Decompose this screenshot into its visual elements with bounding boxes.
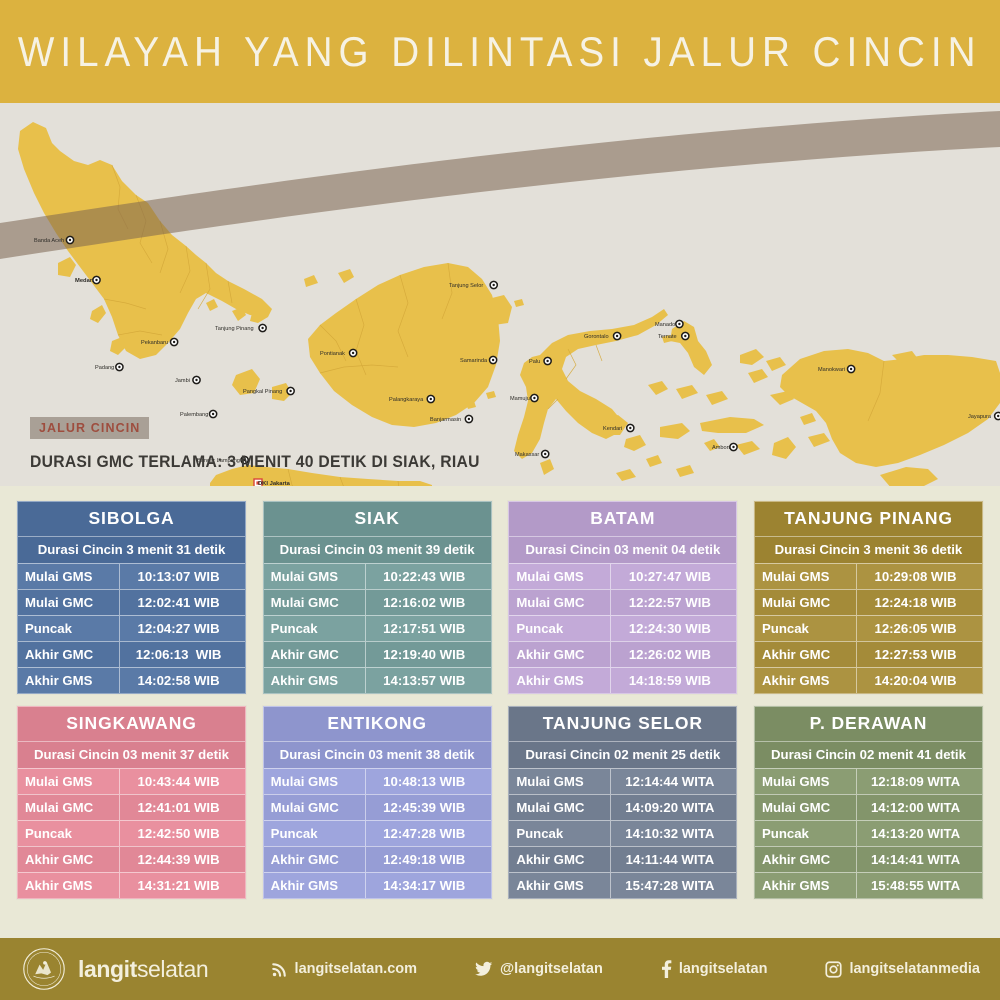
brand-block[interactable]: langitselatan	[0, 947, 208, 991]
table-row: Akhir GMC14:11:44 WITA	[509, 846, 736, 872]
row-value: 12:42:50 WIB	[120, 821, 245, 846]
footer-links: langitselatan.com@langitselatanlangitsel…	[213, 960, 1000, 978]
table-row: Akhir GMS14:31:21 WIB	[18, 872, 245, 898]
row-label: Mulai GMC	[755, 590, 857, 615]
row-label: Akhir GMC	[755, 642, 857, 667]
city-marker-medan	[93, 276, 100, 283]
city-marker-palangkaraya	[427, 395, 434, 402]
city-marker-palu	[544, 357, 551, 364]
row-value: 14:02:58 WIB	[120, 668, 245, 693]
city-marker-palembang	[210, 410, 217, 417]
city-marker-gorontalo	[614, 332, 621, 339]
row-label: Mulai GMS	[755, 564, 857, 589]
row-label: Mulai GMC	[18, 795, 120, 820]
city-label: Ternate	[658, 334, 677, 340]
map-caption: DURASI GMC TERLAMA: 3 MENIT 40 DETIK DI …	[30, 453, 480, 472]
instagram-icon	[825, 961, 842, 978]
table-row: Mulai GMS10:29:08 WIB	[755, 563, 982, 589]
city-card-p-derawan: P. DERAWANDurasi Cincin 02 menit 41 deti…	[754, 706, 983, 899]
row-label: Mulai GMS	[18, 769, 120, 794]
row-label: Puncak	[18, 821, 120, 846]
row-value: 14:11:44 WITA	[611, 847, 736, 872]
table-row: Puncak14:13:20 WITA	[755, 820, 982, 846]
card-duration: Durasi Cincin 02 menit 25 detik	[509, 741, 736, 768]
table-row: Akhir GMS14:18:59 WIB	[509, 667, 736, 693]
card-title: TANJUNG SELOR	[509, 707, 736, 741]
city-card-tanjung-selor: TANJUNG SELORDurasi Cincin 02 menit 25 d…	[508, 706, 737, 899]
table-row: Puncak12:17:51 WIB	[264, 615, 491, 641]
city-card-siak: SIAKDurasi Cincin 03 menit 39 detikMulai…	[263, 501, 492, 694]
city-label: Tanjung Pinang	[215, 326, 254, 332]
row-value: 10:43:44 WIB	[120, 769, 245, 794]
row-value: 12:26:02 WIB	[611, 642, 736, 667]
footer-link-twitter[interactable]: @langitselatan	[475, 961, 603, 977]
city-label: Pangkal Pinang	[243, 389, 282, 395]
row-value: 12:26:05 WIB	[857, 616, 982, 641]
row-label: Puncak	[755, 616, 857, 641]
table-row: Akhir GMC12:44:39 WIB	[18, 846, 245, 872]
legend-jalur-cincin: JALUR CINCIN	[30, 417, 149, 439]
row-value: 12:41:01 WIB	[120, 795, 245, 820]
city-marker-tanjung-pinang	[259, 324, 266, 331]
footer-link-facebook[interactable]: langitselatan	[661, 960, 768, 978]
row-label: Akhir GMS	[755, 873, 857, 898]
table-row: Mulai GMS10:22:43 WIB	[264, 563, 491, 589]
row-value: 14:14:41 WITA	[857, 847, 982, 872]
city-label: Ambon	[712, 445, 730, 451]
table-row: Puncak12:26:05 WIB	[755, 615, 982, 641]
city-timing-cards: SIBOLGADurasi Cincin 3 menit 31 detikMul…	[0, 486, 1000, 899]
city-label: Palu	[529, 359, 540, 365]
row-label: Puncak	[509, 616, 611, 641]
page-footer: langitselatan langitselatan.com@langitse…	[0, 938, 1000, 1000]
row-label: Mulai GMS	[509, 564, 611, 589]
city-label: Tanjung Selor	[449, 283, 483, 289]
city-label: Manado	[655, 322, 675, 328]
row-label: Mulai GMC	[264, 590, 366, 615]
table-row: Puncak14:10:32 WITA	[509, 820, 736, 846]
langitselatan-seal-icon	[22, 947, 66, 991]
city-label: Gorontalo	[584, 334, 609, 340]
footer-link-label: langitselatanmedia	[849, 961, 980, 977]
card-duration: Durasi Cincin 03 menit 38 detik	[264, 741, 491, 768]
card-title: ENTIKONG	[264, 707, 491, 741]
city-marker-samarinda	[490, 356, 497, 363]
row-label: Puncak	[18, 616, 120, 641]
card-rows: Mulai GMS12:14:44 WITAMulai GMC14:09:20 …	[509, 768, 736, 898]
city-marker-banda-aceh	[66, 236, 73, 243]
table-row: Akhir GMS15:47:28 WITA	[509, 872, 736, 898]
card-rows: Mulai GMS10:22:43 WIBMulai GMC12:16:02 W…	[264, 563, 491, 693]
row-label: Akhir GMS	[18, 668, 120, 693]
table-row: Mulai GMC12:16:02 WIB	[264, 589, 491, 615]
table-row: Akhir GMC12:06:13 WIB	[18, 641, 245, 667]
table-row: Mulai GMS10:43:44 WIB	[18, 768, 245, 794]
row-value: 14:09:20 WITA	[611, 795, 736, 820]
footer-link-rss[interactable]: langitselatan.com	[271, 961, 417, 978]
brand-light: selatan	[137, 956, 208, 982]
row-label: Puncak	[509, 821, 611, 846]
row-value: 14:10:32 WITA	[611, 821, 736, 846]
card-title: SIBOLGA	[18, 502, 245, 536]
row-label: Mulai GMS	[18, 564, 120, 589]
card-row-bottom: SINGKAWANGDurasi Cincin 03 menit 37 deti…	[0, 706, 1000, 899]
row-value: 12:18:09 WITA	[857, 769, 982, 794]
row-value: 12:49:18 WIB	[366, 847, 491, 872]
table-row: Akhir GMS14:13:57 WIB	[264, 667, 491, 693]
table-row: Akhir GMC12:27:53 WIB	[755, 641, 982, 667]
row-label: Mulai GMC	[755, 795, 857, 820]
row-label: Mulai GMS	[264, 769, 366, 794]
city-marker-pangkal-pinang	[287, 387, 294, 394]
city-card-batam: BATAMDurasi Cincin 03 menit 04 detikMula…	[508, 501, 737, 694]
row-label: Akhir GMC	[18, 642, 120, 667]
card-rows: Mulai GMS10:27:47 WIBMulai GMC12:22:57 W…	[509, 563, 736, 693]
row-value: 12:19:40 WIB	[366, 642, 491, 667]
row-value: 14:13:57 WIB	[366, 668, 491, 693]
table-row: Puncak12:42:50 WIB	[18, 820, 245, 846]
city-marker-jambi	[193, 376, 200, 383]
card-title: BATAM	[509, 502, 736, 536]
city-card-sibolga: SIBOLGADurasi Cincin 3 menit 31 detikMul…	[17, 501, 246, 694]
table-row: Mulai GMC12:02:41 WIB	[18, 589, 245, 615]
row-label: Mulai GMS	[755, 769, 857, 794]
table-row: Mulai GMS12:14:44 WITA	[509, 768, 736, 794]
city-marker-banjarmasin	[465, 415, 472, 422]
row-value: 12:24:30 WIB	[611, 616, 736, 641]
city-label: Banda Aceh	[34, 238, 64, 244]
city-marker-jayapura	[995, 412, 1000, 419]
card-rows: Mulai GMS10:29:08 WIBMulai GMC12:24:18 W…	[755, 563, 982, 693]
card-duration: Durasi Cincin 02 menit 41 detik	[755, 741, 982, 768]
city-card-tanjung-pinang: TANJUNG PINANGDurasi Cincin 3 menit 36 d…	[754, 501, 983, 694]
table-row: Mulai GMC12:22:57 WIB	[509, 589, 736, 615]
row-label: Puncak	[264, 616, 366, 641]
row-value: 10:48:13 WIB	[366, 769, 491, 794]
card-title: TANJUNG PINANG	[755, 502, 982, 536]
city-marker-mamuju	[531, 394, 538, 401]
table-row: Puncak12:47:28 WIB	[264, 820, 491, 846]
row-value: 12:44:39 WIB	[120, 847, 245, 872]
row-label: Mulai GMC	[509, 590, 611, 615]
row-label: Mulai GMS	[264, 564, 366, 589]
card-title: P. DERAWAN	[755, 707, 982, 741]
city-label: Banjarmasin	[430, 417, 461, 423]
row-value: 10:29:08 WIB	[857, 564, 982, 589]
table-row: Puncak12:24:30 WIB	[509, 615, 736, 641]
row-value: 14:34:17 WIB	[366, 873, 491, 898]
row-label: Mulai GMS	[509, 769, 611, 794]
table-row: Mulai GMC14:12:00 WITA	[755, 794, 982, 820]
card-title: SINGKAWANG	[18, 707, 245, 741]
facebook-icon	[661, 960, 672, 978]
table-row: Mulai GMC12:24:18 WIB	[755, 589, 982, 615]
city-label: Samarinda	[460, 358, 488, 364]
rss-icon	[271, 961, 288, 978]
brand-bold: langit	[78, 956, 137, 982]
city-marker-pekanbaru	[171, 338, 178, 345]
row-value: 14:31:21 WIB	[120, 873, 245, 898]
row-label: Mulai GMC	[509, 795, 611, 820]
footer-link-instagram[interactable]: langitselatanmedia	[825, 961, 980, 978]
row-label: Akhir GMC	[18, 847, 120, 872]
page-header: WILAYAH YANG DILINTASI JALUR CINCIN	[0, 0, 1000, 103]
row-value: 12:06:13 WIB	[120, 642, 245, 667]
row-label: Akhir GMC	[264, 847, 366, 872]
city-marker-manado	[676, 320, 683, 327]
table-row: Akhir GMC12:49:18 WIB	[264, 846, 491, 872]
row-value: 12:24:18 WIB	[857, 590, 982, 615]
city-label: Makassar	[515, 452, 539, 458]
row-label: Puncak	[755, 821, 857, 846]
row-label: Akhir GMS	[509, 668, 611, 693]
row-value: 12:17:51 WIB	[366, 616, 491, 641]
row-value: 12:04:27 WIB	[120, 616, 245, 641]
footer-link-label: langitselatan.com	[295, 961, 417, 977]
card-rows: Mulai GMS10:43:44 WIBMulai GMC12:41:01 W…	[18, 768, 245, 898]
city-marker-ambon	[730, 443, 737, 450]
table-row: Akhir GMC12:19:40 WIB	[264, 641, 491, 667]
row-label: Akhir GMS	[18, 873, 120, 898]
card-rows: Mulai GMS10:13:07 WIBMulai GMC12:02:41 W…	[18, 563, 245, 693]
table-row: Akhir GMS14:02:58 WIB	[18, 667, 245, 693]
row-value: 14:13:20 WITA	[857, 821, 982, 846]
row-value: 12:22:57 WIB	[611, 590, 736, 615]
table-row: Mulai GMC12:45:39 WIB	[264, 794, 491, 820]
city-marker-manokwari	[848, 365, 855, 372]
card-row-top: SIBOLGADurasi Cincin 3 menit 31 detikMul…	[0, 501, 1000, 694]
city-label: Pekanbaru	[141, 340, 168, 346]
row-value: 10:27:47 WIB	[611, 564, 736, 589]
card-duration: Durasi Cincin 3 menit 36 detik	[755, 536, 982, 563]
city-label: Kendari	[603, 426, 622, 432]
row-label: Akhir GMS	[755, 668, 857, 693]
city-card-singkawang: SINGKAWANGDurasi Cincin 03 menit 37 deti…	[17, 706, 246, 899]
table-row: Mulai GMC14:09:20 WITA	[509, 794, 736, 820]
city-marker-ternate	[682, 332, 689, 339]
city-marker-makassar	[542, 450, 549, 457]
brand-wordmark: langitselatan	[78, 956, 208, 983]
row-value: 12:16:02 WIB	[366, 590, 491, 615]
table-row: Akhir GMS14:20:04 WIB	[755, 667, 982, 693]
row-value: 12:45:39 WIB	[366, 795, 491, 820]
card-rows: Mulai GMS12:18:09 WITAMulai GMC14:12:00 …	[755, 768, 982, 898]
row-value: 15:48:55 WITA	[857, 873, 982, 898]
page-title: WILAYAH YANG DILINTASI JALUR CINCIN	[18, 28, 982, 76]
card-duration: Durasi Cincin 03 menit 37 detik	[18, 741, 245, 768]
row-label: Mulai GMC	[18, 590, 120, 615]
card-title: SIAK	[264, 502, 491, 536]
row-label: Mulai GMC	[264, 795, 366, 820]
city-marker-pontianak	[350, 349, 357, 356]
row-label: Akhir GMS	[264, 873, 366, 898]
city-label: Pontianak	[320, 351, 345, 357]
row-label: Akhir GMS	[509, 873, 611, 898]
row-label: Akhir GMC	[509, 847, 611, 872]
row-value: 12:47:28 WIB	[366, 821, 491, 846]
indonesia-map: Banda AcehMedanTanjung PinangPekanbaruPa…	[0, 103, 1000, 486]
infographic-page: WILAYAH YANG DILINTASI JALUR CINCIN	[0, 0, 1000, 1000]
city-label: Palembang	[180, 412, 208, 418]
table-row: Mulai GMS10:13:07 WIB	[18, 563, 245, 589]
row-value: 14:12:00 WITA	[857, 795, 982, 820]
table-row: Mulai GMS10:48:13 WIB	[264, 768, 491, 794]
table-row: Puncak12:04:27 WIB	[18, 615, 245, 641]
city-label: Palangkaraya	[389, 397, 424, 403]
row-label: Akhir GMC	[264, 642, 366, 667]
card-duration: Durasi Cincin 03 menit 39 detik	[264, 536, 491, 563]
city-marker-padang	[116, 363, 123, 370]
row-value: 12:14:44 WITA	[611, 769, 736, 794]
map-panel: Banda AcehMedanTanjung PinangPekanbaruPa…	[0, 103, 1000, 486]
row-value: 14:18:59 WIB	[611, 668, 736, 693]
row-value: 12:27:53 WIB	[857, 642, 982, 667]
table-row: Mulai GMS10:27:47 WIB	[509, 563, 736, 589]
card-duration: Durasi Cincin 3 menit 31 detik	[18, 536, 245, 563]
table-row: Akhir GMS14:34:17 WIB	[264, 872, 491, 898]
city-label: Jambi	[175, 378, 190, 384]
city-label: Medan	[75, 278, 94, 284]
row-label: Akhir GMS	[264, 668, 366, 693]
twitter-icon	[475, 961, 493, 977]
footer-link-label: langitselatan	[679, 961, 768, 977]
row-label: Akhir GMC	[755, 847, 857, 872]
table-row: Mulai GMC12:41:01 WIB	[18, 794, 245, 820]
row-value: 10:13:07 WIB	[120, 564, 245, 589]
row-label: Akhir GMC	[509, 642, 611, 667]
table-row: Akhir GMC12:26:02 WIB	[509, 641, 736, 667]
table-row: Mulai GMS12:18:09 WITA	[755, 768, 982, 794]
city-label: Jayapura	[968, 414, 992, 420]
city-card-entikong: ENTIKONGDurasi Cincin 03 menit 38 detikM…	[263, 706, 492, 899]
city-label: Manokwari	[818, 367, 845, 373]
city-label: Mamuju	[510, 396, 530, 402]
card-duration: Durasi Cincin 03 menit 04 detik	[509, 536, 736, 563]
row-value: 14:20:04 WIB	[857, 668, 982, 693]
city-marker-kendari	[627, 424, 634, 431]
table-row: Akhir GMS15:48:55 WITA	[755, 872, 982, 898]
table-row: Akhir GMC14:14:41 WITA	[755, 846, 982, 872]
map-legend: JALUR CINCIN	[30, 417, 149, 439]
row-label: Puncak	[264, 821, 366, 846]
row-value: 12:02:41 WIB	[120, 590, 245, 615]
row-value: 10:22:43 WIB	[366, 564, 491, 589]
city-marker-tanjung-selor	[490, 281, 497, 288]
footer-link-label: @langitselatan	[500, 961, 603, 977]
city-label: Padang	[95, 365, 114, 371]
row-value: 15:47:28 WITA	[611, 873, 736, 898]
card-rows: Mulai GMS10:48:13 WIBMulai GMC12:45:39 W…	[264, 768, 491, 898]
